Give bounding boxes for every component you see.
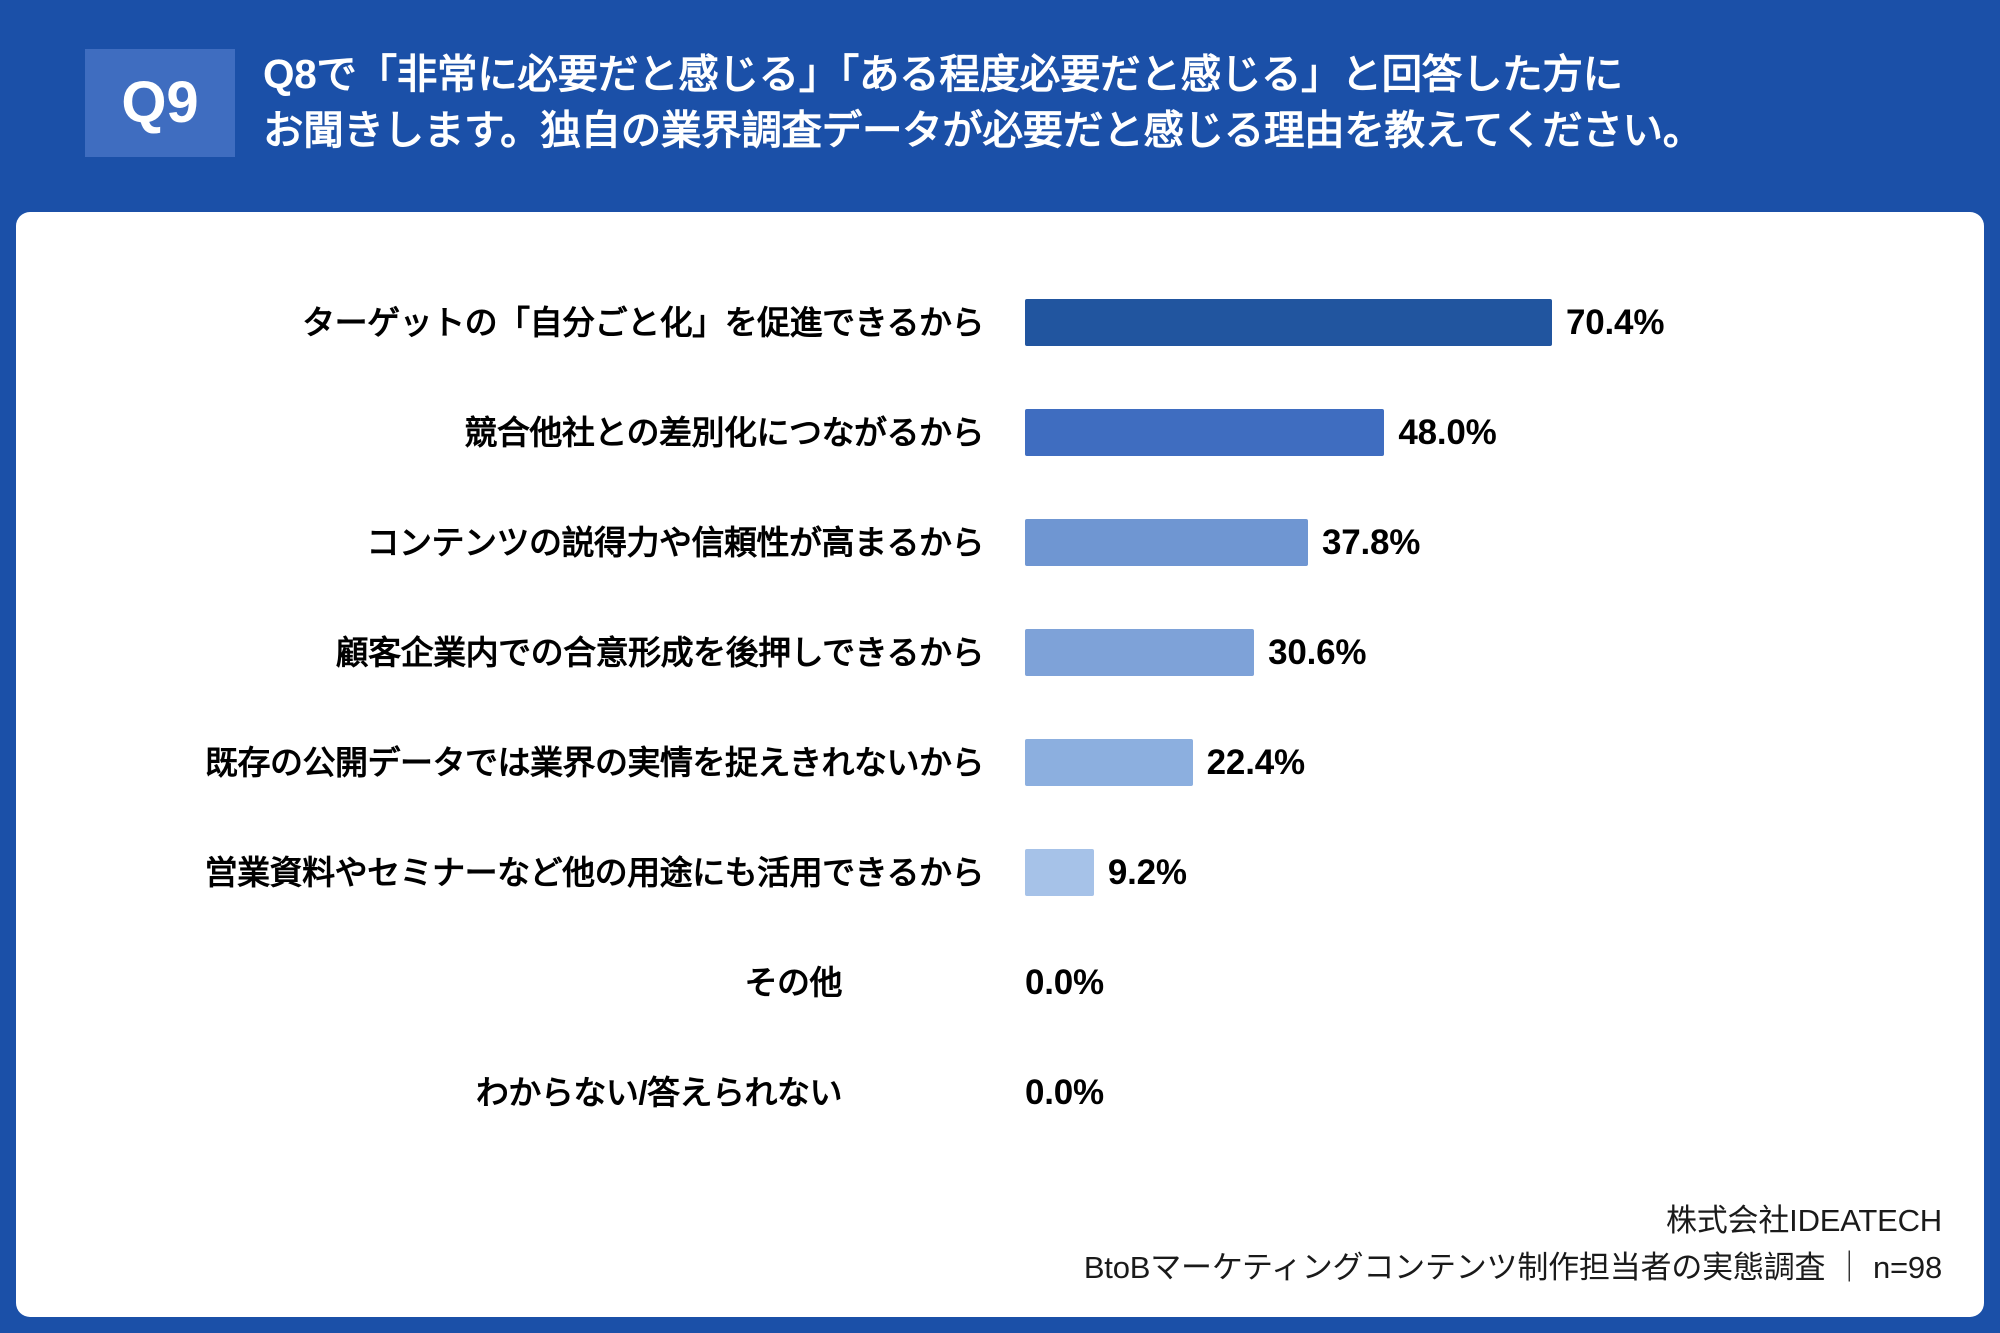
chart-row: その他0.0% xyxy=(16,947,1984,1017)
bar-category-label: わからない/答えられない xyxy=(476,1076,842,1109)
bar-category-label: その他 xyxy=(745,966,843,999)
bar-value-label: 30.6% xyxy=(1268,635,1366,670)
chart-row: 競合他社との差別化につながるから48.0% xyxy=(16,397,1984,467)
bar-category-label: ターゲットの「自分ごと化」を促進できるから xyxy=(302,306,984,339)
chart-row: 既存の公開データでは業界の実情を捉えきれないから22.4% xyxy=(16,727,1984,797)
bar-value-label: 48.0% xyxy=(1398,415,1496,450)
footer-company-name: 株式会社IDEATECH xyxy=(1084,1198,1942,1245)
bar-value-label: 9.2% xyxy=(1108,855,1187,890)
chart-row: 顧客企業内での合意形成を後押しできるから30.6% xyxy=(16,617,1984,687)
chart-row: わからない/答えられない0.0% xyxy=(16,1057,1984,1127)
horizontal-bar-chart: ターゲットの「自分ごと化」を促進できるから70.4%競合他社との差別化につながる… xyxy=(16,212,1984,1317)
question-number-label: Q9 xyxy=(121,74,198,132)
bar-segment xyxy=(1025,409,1384,456)
bar-category-label: 既存の公開データでは業界の実情を捉えきれないから xyxy=(205,746,984,779)
footer: 株式会社IDEATECH BtoBマーケティングコンテンツ制作担当者の実態調査 … xyxy=(1084,1198,1942,1291)
bar-category-label: 顧客企業内での合意形成を後押しできるから xyxy=(336,636,984,669)
bar-segment xyxy=(1025,519,1308,566)
chart-row: コンテンツの説得力や信頼性が高まるから37.8% xyxy=(16,507,1984,577)
bar-value-label: 0.0% xyxy=(1025,1075,1104,1110)
bar-category-label: 営業資料やセミナーなど他の用途にも活用できるから xyxy=(205,856,984,889)
bar-category-label: 競合他社との差別化につながるから xyxy=(464,416,984,449)
question-number-badge: Q9 xyxy=(85,49,235,157)
bar-segment xyxy=(1025,299,1552,346)
bar-value-label: 0.0% xyxy=(1025,965,1104,1000)
bar-segment xyxy=(1025,739,1193,786)
chart-row: 営業資料やセミナーなど他の用途にも活用できるから9.2% xyxy=(16,837,1984,907)
bar-segment xyxy=(1025,629,1254,676)
bar-value-label: 22.4% xyxy=(1207,745,1305,780)
bar-segment xyxy=(1025,849,1094,896)
header-band: Q9 Q8で「非常に必要だと感じる」「ある程度必要だと感じる」と回答した方に お… xyxy=(0,0,2000,205)
slide-root: Q9 Q8で「非常に必要だと感じる」「ある程度必要だと感じる」と回答した方に お… xyxy=(0,0,2000,1333)
bar-value-label: 70.4% xyxy=(1566,305,1664,340)
chart-card: ターゲットの「自分ごと化」を促進できるから70.4%競合他社との差別化につながる… xyxy=(16,212,1984,1317)
footer-survey-name: BtoBマーケティングコンテンツ制作担当者の実態調査 ｜ n=98 xyxy=(1084,1245,1942,1292)
bar-value-label: 37.8% xyxy=(1322,525,1420,560)
chart-row: ターゲットの「自分ごと化」を促進できるから70.4% xyxy=(16,287,1984,357)
question-title: Q8で「非常に必要だと感じる」「ある程度必要だと感じる」と回答した方に お聞きし… xyxy=(263,47,1703,159)
bar-category-label: コンテンツの説得力や信頼性が高まるから xyxy=(367,526,985,559)
